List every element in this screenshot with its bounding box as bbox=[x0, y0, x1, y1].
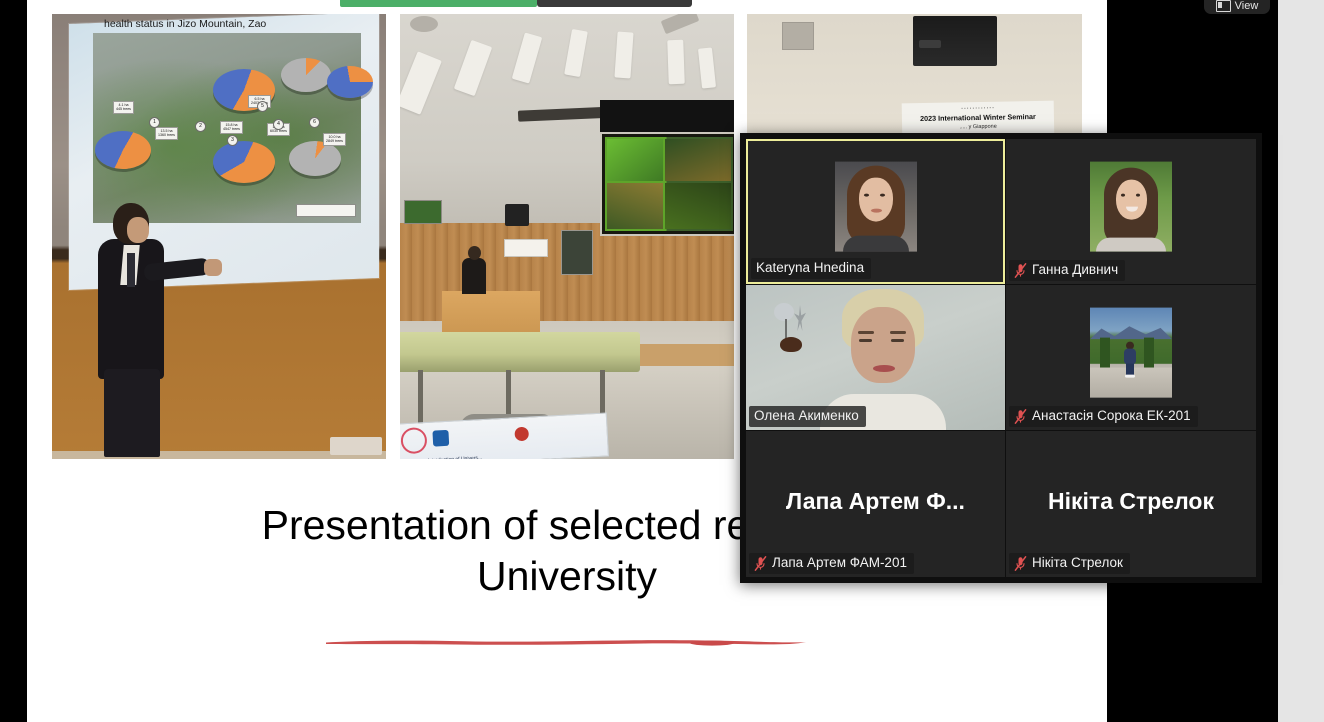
mic-muted-icon bbox=[1014, 556, 1027, 571]
map-number-5: 5 bbox=[257, 101, 268, 112]
ceiling-speaker bbox=[913, 16, 997, 66]
participant-display-name: Лапа Артем Ф... bbox=[746, 488, 1005, 515]
presenter-figure bbox=[94, 169, 170, 459]
map-label-area-6: 10.0 ha2849 trees bbox=[323, 133, 346, 146]
mic-muted-icon bbox=[1014, 409, 1027, 424]
avatar bbox=[835, 161, 917, 251]
map-label-area-3: 15.8 ha4547 trees bbox=[220, 121, 243, 134]
view-button[interactable]: View bbox=[1204, 0, 1270, 14]
participant-name-badge: Нікіта Стрелок bbox=[1009, 553, 1130, 574]
participant-name: Анастасія Сорока ЕК-201 bbox=[1032, 408, 1191, 424]
participant-tile-nikita-strelok[interactable]: Нікіта Стрелок Нікіта Стрелок bbox=[1006, 431, 1256, 577]
banner-decor-text: ▪ ▪ ▪ ▪ ▪ ▪ ▪ ▪ ▪ ▪ ▪ ▪ bbox=[902, 105, 1054, 112]
map-number-3: 3 bbox=[227, 135, 238, 146]
zoom-participants-panel[interactable]: Kateryna Hnedina bbox=[740, 133, 1262, 583]
participant-name-badge: Анастасія Сорока ЕК-201 bbox=[1009, 406, 1198, 427]
screen-root: health status in Jizo Mountain, Zao 4.1 … bbox=[0, 0, 1324, 722]
title-underline-decoration bbox=[324, 635, 808, 648]
mic-muted-icon bbox=[1014, 263, 1027, 278]
map-scale-bar bbox=[296, 204, 356, 217]
participant-name: Ганна Дивнич bbox=[1032, 262, 1118, 278]
banner-subtitle: ..... y Giappone bbox=[902, 123, 1054, 132]
projected-slide-caption: health status in Jizo Mountain, Zao bbox=[104, 18, 354, 30]
avatar bbox=[1090, 161, 1172, 251]
banner-title: 2023 International Winter Seminar bbox=[902, 112, 1054, 124]
participant-display-name: Нікіта Стрелок bbox=[1006, 488, 1256, 515]
wall-monitor bbox=[404, 200, 442, 224]
mic-muted-icon bbox=[754, 556, 767, 571]
participant-name-badge: Лапа Артем ФАМ-201 bbox=[749, 553, 914, 574]
participant-name: Kateryna Hnedina bbox=[756, 260, 864, 276]
map-label-area-2: 13.5 ha1360 trees bbox=[155, 127, 178, 140]
map-number-4: 4 bbox=[273, 119, 284, 130]
slide-title-line-2: University bbox=[477, 553, 657, 599]
slide-photo-presenter: health status in Jizo Mountain, Zao 4.1 … bbox=[52, 14, 386, 459]
view-button-label: View bbox=[1235, 1, 1259, 12]
map-label-area-1: 4.1 ha445 trees bbox=[113, 101, 134, 114]
map-number-2: 2 bbox=[195, 121, 206, 132]
participant-tile-kateryna-hnedina[interactable]: Kateryna Hnedina bbox=[746, 139, 1005, 284]
grid-view-icon bbox=[1216, 0, 1231, 12]
speaker-figure bbox=[460, 246, 488, 294]
slide-photo-lecture-hall: Introduction of Univers... bbox=[400, 14, 734, 459]
desktop-background-strip bbox=[1278, 0, 1324, 722]
participant-tile-olena-akymenko[interactable]: Олена Акименко bbox=[746, 285, 1005, 430]
participant-name-badge: Ганна Дивнич bbox=[1009, 260, 1125, 281]
map-number-6: 6 bbox=[309, 117, 320, 128]
participant-name: Олена Акименко bbox=[754, 408, 859, 424]
participant-name: Нікіта Стрелок bbox=[1032, 555, 1123, 571]
participant-tile-hanna-dyvnych[interactable]: Ганна Дивнич bbox=[1006, 139, 1256, 284]
participant-tile-anastasiia-soroka[interactable]: Анастасія Сорока ЕК-201 bbox=[1006, 285, 1256, 430]
share-indicator-dark bbox=[537, 0, 692, 7]
participant-tile-lapa-artem[interactable]: Лапа Артем Ф... Лапа Артем ФАМ-201 bbox=[746, 431, 1005, 577]
avatar bbox=[1090, 307, 1172, 397]
participant-grid: Kateryna Hnedina bbox=[746, 139, 1256, 577]
screen-share-indicator-bar bbox=[340, 0, 820, 7]
share-indicator-green bbox=[340, 0, 537, 7]
participant-name-badge: Kateryna Hnedina bbox=[751, 258, 871, 279]
participant-name-badge: Олена Акименко bbox=[749, 406, 866, 427]
map-number-1: 1 bbox=[149, 117, 160, 128]
projection-screen bbox=[600, 132, 734, 236]
participant-name: Лапа Артем ФАМ-201 bbox=[772, 555, 907, 571]
